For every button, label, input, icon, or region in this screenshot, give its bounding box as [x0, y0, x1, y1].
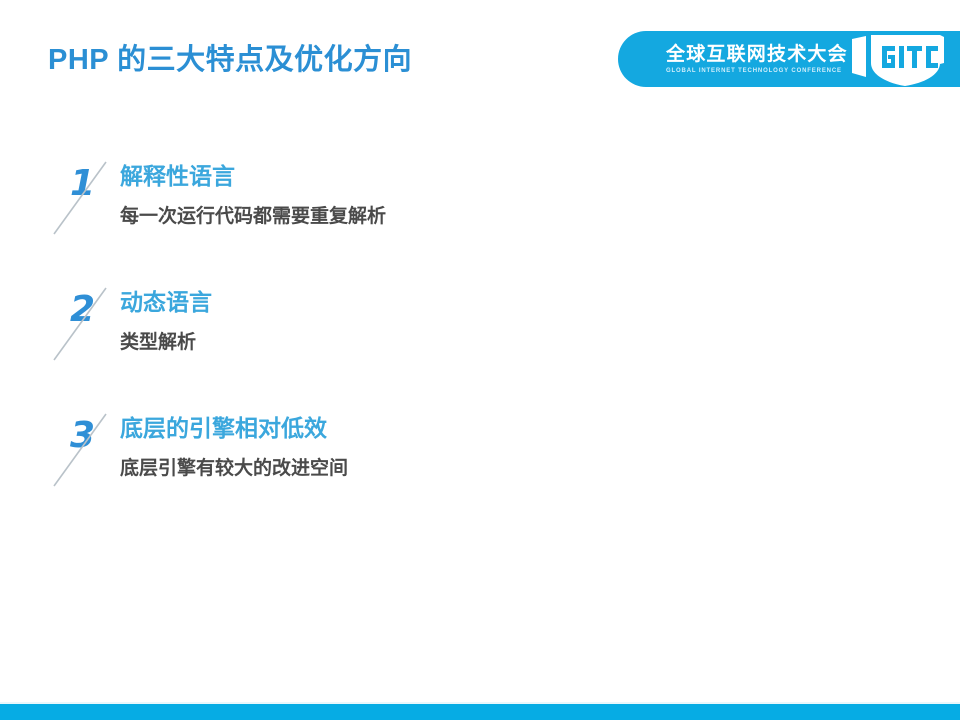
- point-body: 动态语言 类型解析: [120, 288, 212, 356]
- point-heading: 底层的引擎相对低效: [120, 414, 348, 444]
- point-description: 类型解析: [120, 331, 212, 356]
- point-description: 每一次运行代码都需要重复解析: [120, 205, 386, 230]
- point-number: 1: [70, 166, 95, 202]
- conference-logo: 全球互联网技术大会 GLOBAL INTERNET TECHNOLOGY CON…: [618, 31, 960, 87]
- logo-name-cn: 全球互联网技术大会: [666, 45, 848, 64]
- page-title: PHP 的三大特点及优化方向: [48, 36, 412, 78]
- point-number: 3: [70, 418, 95, 454]
- list-item: 3 底层的引擎相对低效 底层引擎有较大的改进空间: [0, 404, 960, 530]
- point-body: 底层的引擎相对低效 底层引擎有较大的改进空间: [120, 414, 348, 482]
- point-body: 解释性语言 每一次运行代码都需要重复解析: [120, 162, 386, 230]
- list-item: 2 动态语言 类型解析: [0, 278, 960, 404]
- logo-text-block: 全球互联网技术大会 GLOBAL INTERNET TECHNOLOGY CON…: [666, 45, 848, 74]
- gitc-shield-icon: [850, 33, 946, 87]
- list-item: 1 解释性语言 每一次运行代码都需要重复解析: [0, 152, 960, 278]
- slide-canvas: PHP 的三大特点及优化方向 全球互联网技术大会 GLOBAL INTERNET…: [0, 0, 960, 720]
- logo-name-en: GLOBAL INTERNET TECHNOLOGY CONFERENCE: [666, 67, 848, 73]
- point-number: 2: [70, 292, 95, 328]
- point-heading: 解释性语言: [120, 162, 386, 192]
- point-heading: 动态语言: [120, 288, 212, 318]
- feature-point-list: 1 解释性语言 每一次运行代码都需要重复解析 2 动态语言 类型解析 3: [0, 152, 960, 530]
- bottom-accent-bar: [0, 704, 960, 720]
- point-description: 底层引擎有较大的改进空间: [120, 457, 348, 482]
